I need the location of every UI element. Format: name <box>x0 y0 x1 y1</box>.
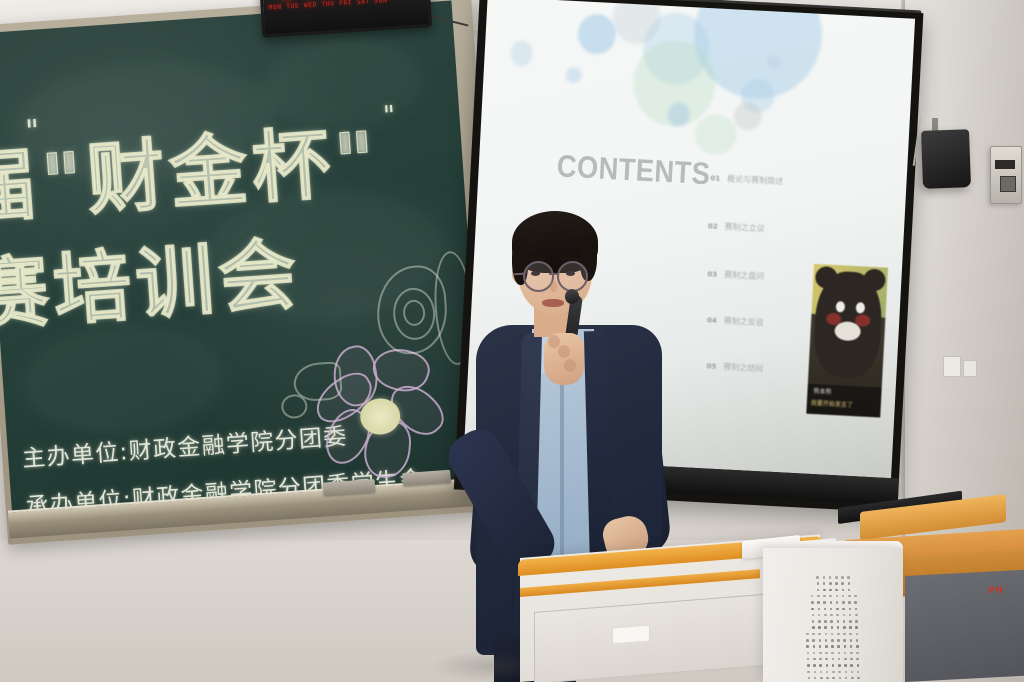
slide-item-number: 05 <box>706 362 716 370</box>
desk-logo: PH <box>988 586 1003 597</box>
grille-dot <box>807 664 810 667</box>
grille-dot <box>819 658 822 661</box>
grille-dot <box>837 633 840 636</box>
grille-dot <box>818 633 821 636</box>
slide-item-label: 赛制之盘问 <box>724 270 764 281</box>
grille-dot <box>825 652 828 655</box>
grille-dot <box>856 652 859 655</box>
photo-caption-top: 熊本熊 <box>813 386 831 396</box>
grille-dot <box>813 664 816 667</box>
grille-dot <box>831 652 834 655</box>
grille-dot <box>830 608 833 611</box>
grille-dot <box>831 639 834 642</box>
grille-dot <box>851 671 854 674</box>
grille-dot <box>850 652 853 655</box>
grille-dot <box>837 626 840 629</box>
grille-dot <box>836 608 839 611</box>
grille-dot <box>849 608 852 611</box>
grille-dot <box>806 639 809 642</box>
grille-dot <box>841 576 844 579</box>
grille-dot <box>825 658 828 661</box>
grille-dot <box>843 620 846 623</box>
grille-dot <box>820 677 823 680</box>
grille-dot <box>850 645 853 648</box>
desk-lower-panel <box>905 570 1024 682</box>
grille-dot <box>826 671 829 674</box>
lectern-label <box>612 625 650 645</box>
grille-dot <box>832 671 835 674</box>
grille-dot <box>811 601 814 604</box>
grille-dot <box>830 620 833 623</box>
slide-item-label: 概论与赛制简述 <box>727 174 783 186</box>
grille-dot <box>850 658 853 661</box>
grille-dot <box>842 608 845 611</box>
grille-dot <box>837 645 840 648</box>
grille-dot <box>855 614 858 617</box>
blackboard-headline-line2: 赛培训会 <box>0 212 304 347</box>
grille-dot <box>818 620 821 623</box>
grille-dot <box>819 652 822 655</box>
grille-dot <box>816 576 819 579</box>
grille-dot <box>831 633 834 636</box>
grille-dot <box>823 582 826 585</box>
grille-dot <box>843 614 846 617</box>
grille-dot <box>857 677 860 680</box>
grille-dot <box>825 633 828 636</box>
electrical-panel[interactable] <box>990 146 1022 204</box>
slide-item-label: 赛制之立议 <box>724 222 764 233</box>
grille-dot <box>814 677 817 680</box>
grille-dot <box>845 677 848 680</box>
grille-dot <box>836 595 839 598</box>
slide-heading: CONTENTS <box>556 148 711 192</box>
grille-dot <box>850 639 853 642</box>
grille-dot <box>831 626 834 629</box>
grille-dot <box>830 614 833 617</box>
grille-dot <box>838 671 841 674</box>
grille-dot <box>829 595 832 598</box>
panel-switch[interactable] <box>1000 176 1016 192</box>
grille-dot <box>843 639 846 642</box>
grille-dot <box>807 671 810 674</box>
grille-dot <box>819 639 822 642</box>
grille-dot <box>854 595 857 598</box>
grille-dot <box>814 671 817 674</box>
grille-dot <box>836 614 839 617</box>
slide-list-item: 01概论与赛制简述 <box>710 172 783 187</box>
wall-outlet[interactable] <box>943 356 961 377</box>
grille-dot <box>817 589 820 592</box>
grille-dot <box>842 589 845 592</box>
panel-slot <box>995 160 1015 169</box>
slide-item-label: 赛制之反驳 <box>724 316 764 327</box>
grille-dot <box>823 601 826 604</box>
grille-dot <box>818 614 821 617</box>
grille-dot <box>825 639 828 642</box>
grille-dot <box>811 608 814 611</box>
grille-dot <box>820 671 823 674</box>
grille-dot <box>812 639 815 642</box>
grille-dot <box>826 677 829 680</box>
wall-speaker-icon <box>921 129 971 189</box>
grille-dot <box>829 576 832 579</box>
slide-item-number: 03 <box>707 270 717 278</box>
kumamon-mascot-photo: 熊本熊 我要开始发言了 <box>806 264 888 418</box>
grille-dot <box>817 582 820 585</box>
hand-holding-microphone <box>544 333 584 385</box>
grille-dot <box>832 664 835 667</box>
wall-outlet[interactable] <box>963 360 977 377</box>
grille-dot <box>824 626 827 629</box>
grille-dot <box>844 658 847 661</box>
grille-dot <box>811 595 814 598</box>
slide-item-number: 02 <box>708 222 718 230</box>
glasses-bridge <box>549 273 558 275</box>
blackboard-frame: " " 届"财金杯" 赛培训会 主办单位:财政金融学院分团委 承办单位:财政金融… <box>0 0 507 545</box>
grille-dot <box>835 582 838 585</box>
grille-dot <box>842 601 845 604</box>
grille-dot <box>848 589 851 592</box>
grille-dot <box>835 589 838 592</box>
glasses-lens-icon <box>557 261 588 292</box>
grille-dot <box>837 620 840 623</box>
grille-dot <box>823 576 826 579</box>
blackboard-surface: " " 届"财金杯" 赛培训会 主办单位:财政金融学院分团委 承办单位:财政金融… <box>0 0 485 514</box>
slide-item-number: 04 <box>707 316 717 324</box>
grille-dot <box>832 658 835 661</box>
grille-dot <box>836 601 839 604</box>
grille-dot <box>823 589 826 592</box>
grille-dot <box>807 658 810 661</box>
grille-dot <box>817 595 820 598</box>
grille-dot <box>856 645 859 648</box>
grille-dot <box>824 620 827 623</box>
slide-list-item: 05赛制之结辩 <box>706 360 763 374</box>
grille-dot <box>854 601 857 604</box>
grille-dot <box>819 645 822 648</box>
classroom-scene: " " 届"财金杯" 赛培训会 主办单位:财政金融学院分团委 承办单位:财政金融… <box>0 0 1024 682</box>
slide-list-item: 04赛制之反驳 <box>707 314 764 328</box>
grille-dot <box>829 589 832 592</box>
slide-item-label: 赛制之结辩 <box>723 362 763 373</box>
grille-dot <box>837 639 840 642</box>
chalk-quote-close: " <box>382 101 398 132</box>
grille-dot <box>832 677 835 680</box>
grille-dot <box>824 608 827 611</box>
grille-dot <box>844 652 847 655</box>
grille-dot <box>818 608 821 611</box>
grille-dot <box>855 620 858 623</box>
grille-dot <box>856 658 859 661</box>
slide-item-number: 01 <box>710 174 720 182</box>
grille-dot <box>806 633 809 636</box>
grille-dot <box>812 620 815 623</box>
grille-dot <box>849 620 852 623</box>
grille-dot <box>838 664 841 667</box>
grille-dot <box>829 582 832 585</box>
grille-dot <box>808 677 811 680</box>
grille-dot <box>839 677 842 680</box>
grille-dot <box>806 645 809 648</box>
grille-dot <box>855 608 858 611</box>
speaker-grille <box>800 570 860 682</box>
grille-dot <box>807 652 810 655</box>
grille-dot <box>843 633 846 636</box>
grille-dot <box>856 639 859 642</box>
grille-dot <box>812 614 815 617</box>
grille-dot <box>857 671 860 674</box>
grille-dot <box>838 658 841 661</box>
grille-dot <box>848 601 851 604</box>
grille-dot <box>819 664 822 667</box>
grille-dot <box>848 595 851 598</box>
slide-list-item: 02赛制之立议 <box>708 220 765 234</box>
nose <box>550 281 557 292</box>
grille-dot <box>855 626 858 629</box>
grille-dot <box>850 664 853 667</box>
grille-dot <box>813 645 816 648</box>
grille-dot <box>844 664 847 667</box>
grille-dot <box>848 582 851 585</box>
grille-dot <box>843 626 846 629</box>
grille-dot <box>823 595 826 598</box>
grille-dot <box>851 677 854 680</box>
mouth <box>542 299 564 307</box>
grille-dot <box>818 626 821 629</box>
grille-dot <box>824 614 827 617</box>
grille-dot <box>849 633 852 636</box>
grille-dot <box>835 576 838 579</box>
grille-dot <box>849 614 852 617</box>
grille-dot <box>831 645 834 648</box>
grille-dot <box>830 601 833 604</box>
grille-dot <box>856 633 859 636</box>
grille-dot <box>825 645 828 648</box>
grille-dot <box>812 626 815 629</box>
grille-dot <box>849 626 852 629</box>
slide-list-item: 03赛制之盘问 <box>707 268 764 282</box>
grille-dot <box>857 664 860 667</box>
grille-dot <box>845 671 848 674</box>
grille-dot <box>844 645 847 648</box>
grille-dot <box>847 576 850 579</box>
grille-dot <box>842 595 845 598</box>
grille-dot <box>813 652 816 655</box>
grille-dot <box>813 658 816 661</box>
grille-dot <box>841 582 844 585</box>
grille-dot <box>826 664 829 667</box>
grille-dot <box>812 633 815 636</box>
grille-dot <box>838 652 841 655</box>
grille-dot <box>817 601 820 604</box>
